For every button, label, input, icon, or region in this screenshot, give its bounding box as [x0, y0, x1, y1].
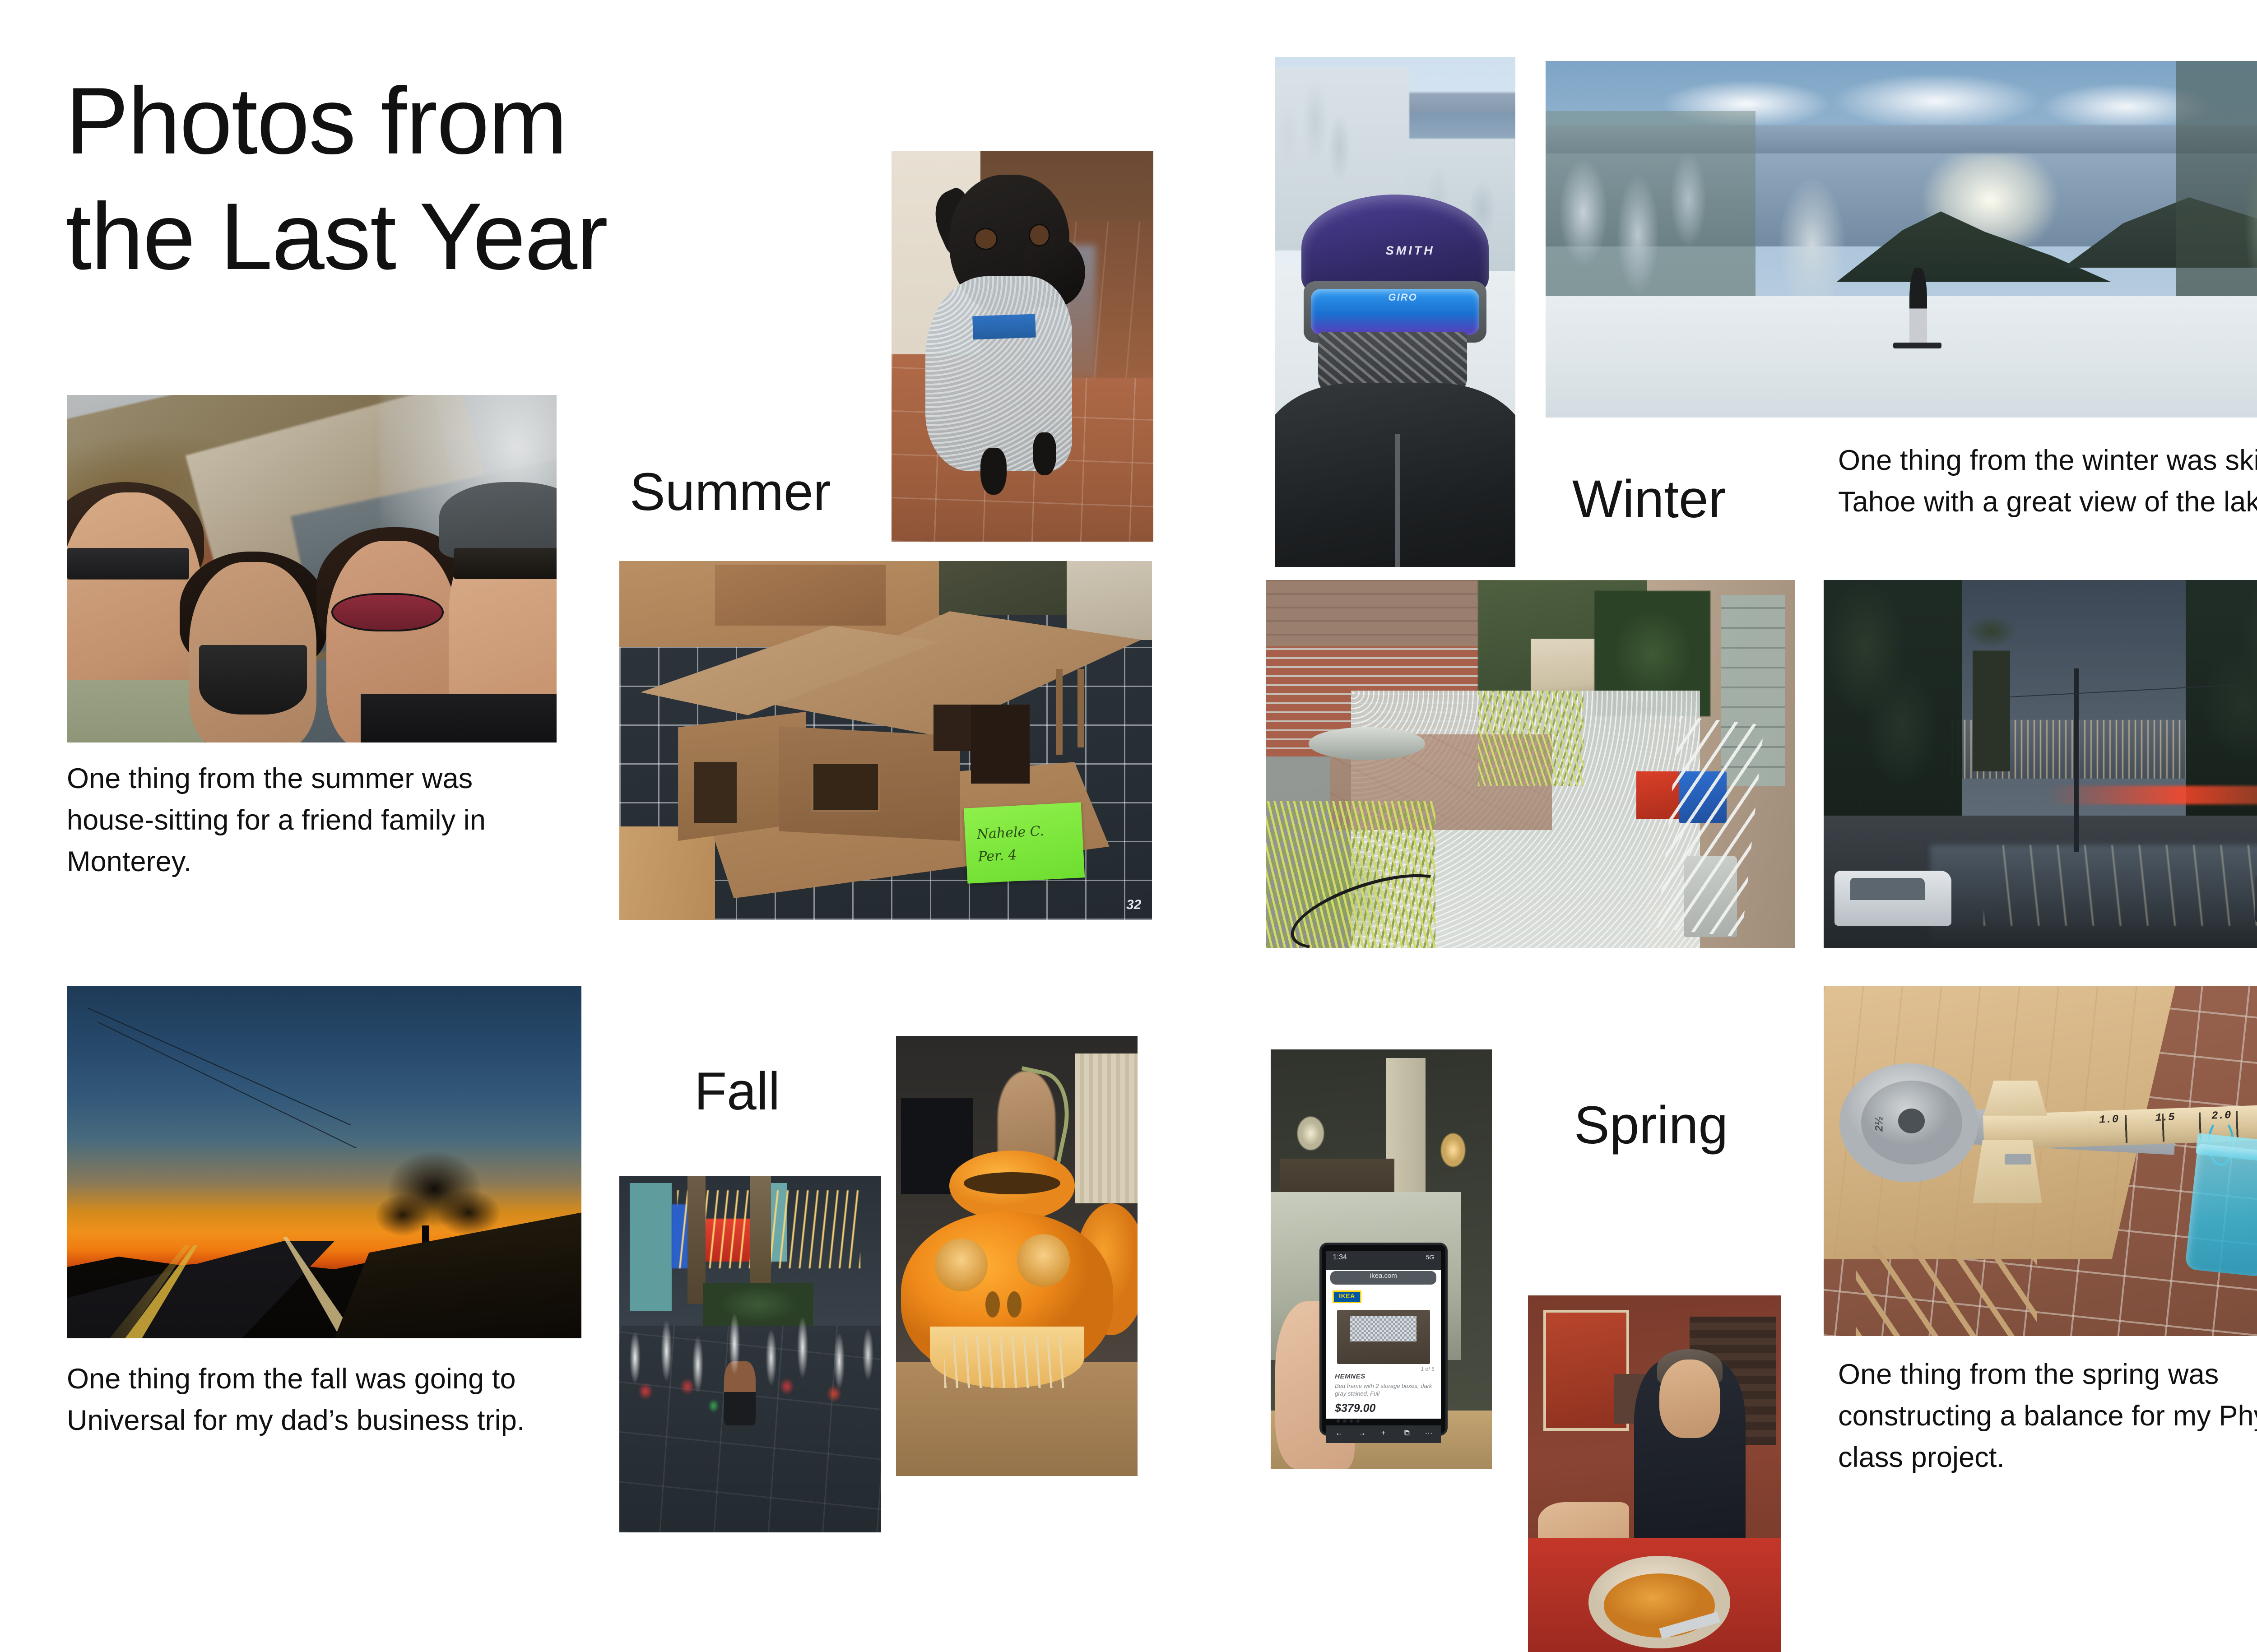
- photo-family-meal-at-restaurant: [1528, 1295, 1781, 1652]
- caption-spring: One thing from the spring was constructi…: [1838, 1354, 2257, 1479]
- browser-nav-bar[interactable]: ← → + ⧉ ···: [1326, 1425, 1441, 1443]
- photo-lake-tahoe-ski-panorama: [1546, 61, 2257, 418]
- weight-plate-label: 2½: [1873, 1116, 1886, 1131]
- photo-chipboard-architecture-model: Nahele C. Per. 4 32: [619, 561, 1152, 920]
- phone-status-bar: 1:34 5G: [1326, 1251, 1441, 1270]
- model-sticky-note: Nahele C. Per. 4: [964, 802, 1085, 883]
- photo-family-selfie-coastal-cliff: [67, 395, 557, 742]
- phone-status-time: 1:34: [1333, 1253, 1347, 1262]
- more-icon[interactable]: ···: [1425, 1429, 1433, 1438]
- photo-sunset-country-road: [67, 986, 581, 1338]
- collage-page: Photos from the Last Year Summer Nahele …: [0, 0, 2257, 1625]
- beam-mark-1: 1.0: [2099, 1114, 2119, 1126]
- section-heading-fall: Fall: [694, 1061, 780, 1122]
- caption-winter: One thing from the winter was skiing in …: [1838, 440, 2257, 523]
- section-heading-spring: Spring: [1574, 1095, 1728, 1156]
- section-heading-summer: Summer: [630, 461, 831, 523]
- forward-icon[interactable]: →: [1358, 1429, 1366, 1438]
- browser-address-bar[interactable]: ikea.com: [1330, 1271, 1436, 1285]
- tabs-icon[interactable]: ⧉: [1404, 1429, 1410, 1438]
- model-note-line-1: Nahele C.: [976, 821, 1045, 845]
- phone-status-network: 5G: [1426, 1253, 1434, 1261]
- helmet-brand-label: SMITH: [1386, 244, 1435, 258]
- page-title-line-2: the Last Year: [65, 179, 833, 294]
- caption-fall: One thing from the fall was going to Uni…: [67, 1359, 577, 1442]
- photo-skier-helmet-goggles-selfie: SMITH GIRO: [1275, 57, 1515, 567]
- photo-citywalk-splash-fountain: [619, 1176, 881, 1532]
- goggle-brand-label: GIRO: [1389, 292, 1417, 303]
- add-icon[interactable]: +: [1381, 1429, 1386, 1438]
- photo-carved-jack-o-lantern: [896, 1036, 1138, 1476]
- back-icon[interactable]: ←: [1335, 1429, 1343, 1438]
- cutting-mat-tick-label: 32: [1126, 897, 1141, 913]
- product-price: $379.00: [1335, 1402, 1375, 1415]
- photo-hail-in-backyard: [1266, 580, 1795, 948]
- photo-physics-balance-project: 1.0 1.5 2.0 2.5 2½: [1824, 986, 2257, 1336]
- model-note-line-2: Per. 4: [977, 845, 1017, 867]
- browser-url-text: ikea.com: [1370, 1272, 1397, 1280]
- product-description: Bed frame with 2 storage boxes, dark gra…: [1335, 1383, 1436, 1398]
- product-name: HEMNES: [1335, 1373, 1365, 1380]
- photo-city-street-at-dusk: [1824, 580, 2257, 948]
- product-rating-stars: ★★★★: [1335, 1417, 1361, 1425]
- ikea-logo: IKEA: [1333, 1290, 1361, 1303]
- ikea-logo-text: IKEA: [1339, 1292, 1355, 1299]
- gallery-position-label: 1 of 5: [1421, 1366, 1435, 1372]
- photo-dog-in-bubble-wrap-costume: [892, 151, 1153, 542]
- page-title-line-1: Photos from: [65, 63, 833, 179]
- photo-phone-browsing-ikea-showroom: 1:34 5G ikea.com IKEA 1 of 5 HEMNES Bed …: [1271, 1049, 1492, 1469]
- page-title: Photos from the Last Year: [65, 63, 833, 294]
- caption-summer: One thing from the summer was house-sitt…: [67, 758, 554, 883]
- beam-mark-2: 1.5: [2155, 1111, 2175, 1124]
- section-heading-winter: Winter: [1572, 469, 1726, 530]
